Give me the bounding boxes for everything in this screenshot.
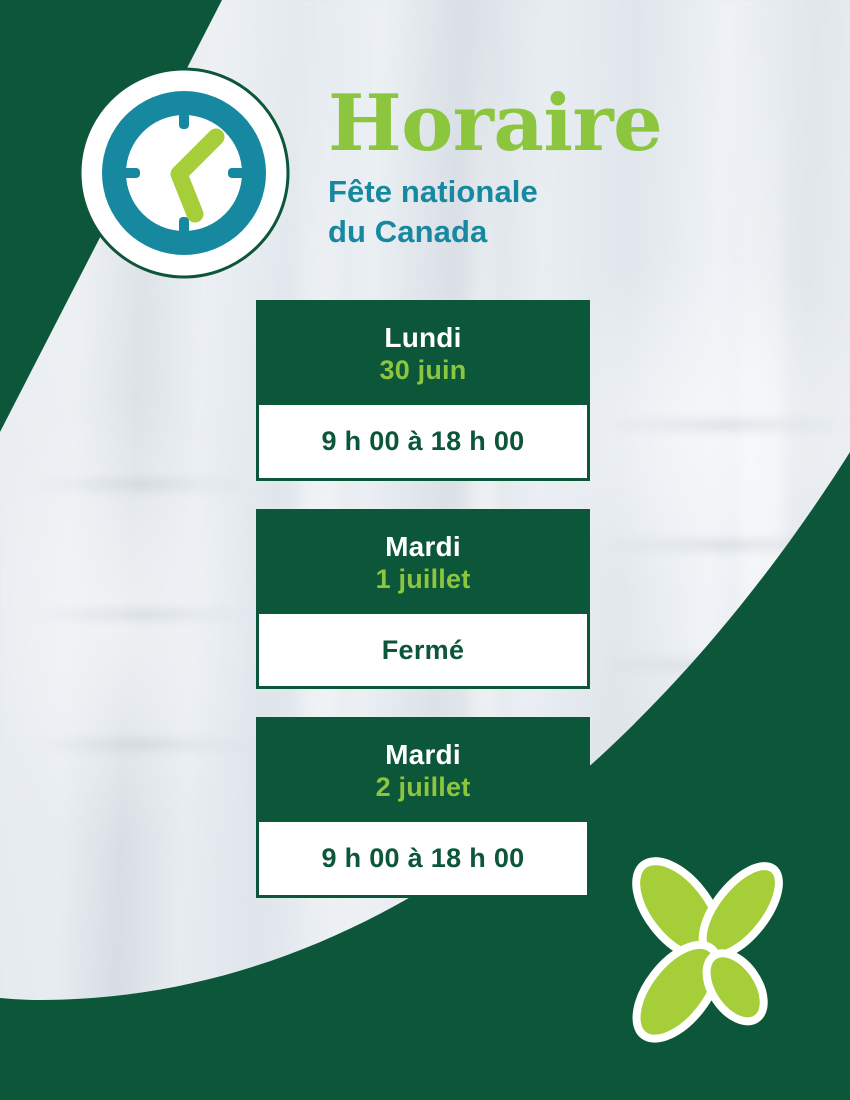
schedule-date: 30 juin <box>266 354 580 387</box>
schedule-day: Mardi <box>266 738 580 771</box>
schedule-card-header: Mardi 2 juillet <box>256 717 590 822</box>
title-block: Horaire Fête nationale du Canada <box>328 86 748 252</box>
schedule-card: Lundi 30 juin 9 h 00 à 18 h 00 <box>256 300 590 481</box>
schedule-date: 1 juillet <box>266 563 580 596</box>
schedule-card-body: 9 h 00 à 18 h 00 <box>256 405 590 481</box>
schedule-hours: 9 h 00 à 18 h 00 <box>269 844 577 874</box>
subtitle-line-2: du Canada <box>328 212 748 252</box>
schedule-card-header: Lundi 30 juin <box>256 300 590 405</box>
subtitle-line-1: Fête nationale <box>328 172 748 212</box>
schedule-day: Mardi <box>266 530 580 563</box>
schedule-day: Lundi <box>266 321 580 354</box>
schedule-card-body: Fermé <box>256 614 590 690</box>
clock-icon <box>78 67 290 279</box>
page-title: Horaire <box>328 86 748 162</box>
schedule-card: Mardi 2 juillet 9 h 00 à 18 h 00 <box>256 717 590 898</box>
page-subtitle: Fête nationale du Canada <box>328 172 748 251</box>
schedule-poster: Horaire Fête nationale du Canada Lundi 3… <box>0 0 850 1100</box>
schedule-card-header: Mardi 1 juillet <box>256 509 590 614</box>
schedule-hours: 9 h 00 à 18 h 00 <box>269 427 577 457</box>
schedule-card: Mardi 1 juillet Fermé <box>256 509 590 690</box>
schedule-list: Lundi 30 juin 9 h 00 à 18 h 00 Mardi 1 j… <box>256 300 590 898</box>
schedule-card-body: 9 h 00 à 18 h 00 <box>256 822 590 898</box>
schedule-date: 2 juillet <box>266 771 580 804</box>
schedule-hours: Fermé <box>269 636 577 666</box>
butterfly-logo <box>612 852 808 1048</box>
